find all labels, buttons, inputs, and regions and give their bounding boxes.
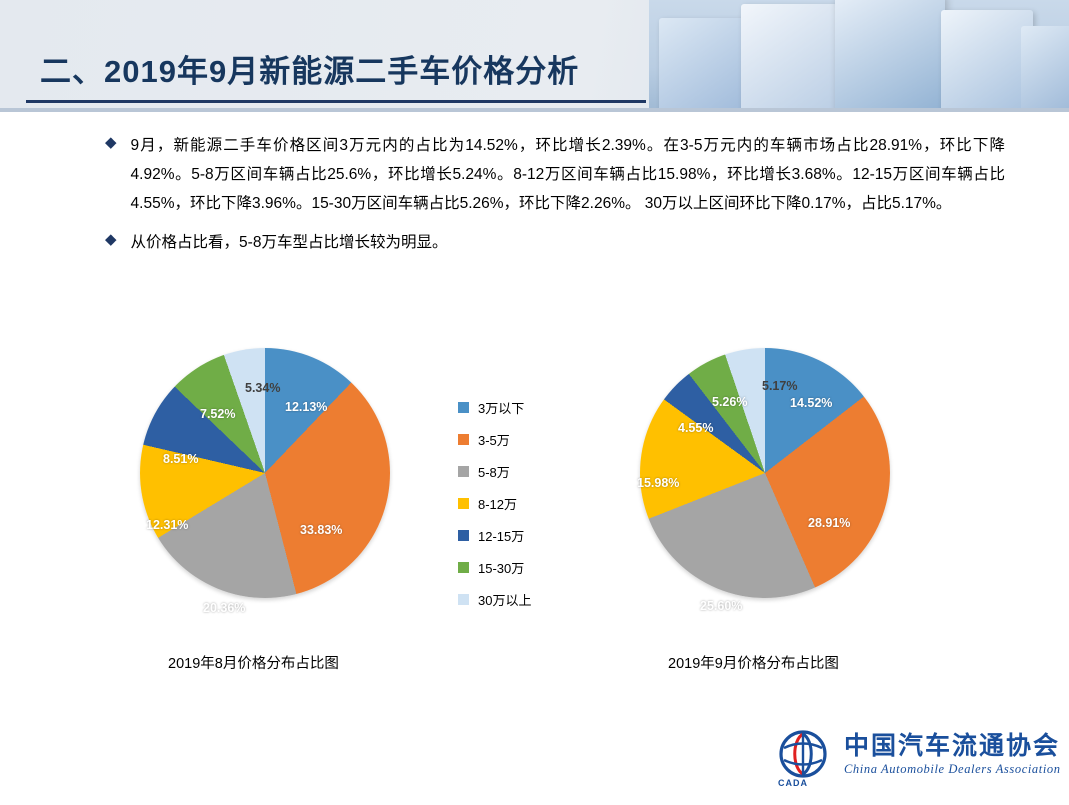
slice-label-15-30wan: 5.26% — [712, 395, 747, 409]
legend-swatch-icon — [458, 466, 469, 477]
legend-label: 30万以上 — [478, 590, 531, 609]
slice-label-5-8wan: 20.36% — [203, 601, 245, 615]
bullet-text: 从价格占比看，5-8万车型占比增长较为明显。 — [131, 228, 448, 257]
slice-label-30wan-shang: 5.17% — [762, 379, 797, 393]
charts-container: 12.13% 33.83% 20.36% 12.31% 8.51% 7.52% … — [0, 330, 1069, 690]
legend-label: 5-8万 — [478, 462, 510, 481]
legend-item: 3万以下 — [458, 398, 531, 417]
glass-cube-b — [741, 4, 837, 112]
bullet-item: ◆ 从价格占比看，5-8万车型占比增长较为明显。 — [105, 228, 1005, 257]
legend-item: 3-5万 — [458, 430, 531, 449]
diamond-bullet-icon: ◆ — [105, 229, 117, 251]
slice-label-3-5wan: 28.91% — [808, 516, 850, 530]
slide-header: 二、2019年9月新能源二手车价格分析 — [0, 0, 1069, 112]
legend-label: 12-15万 — [478, 526, 524, 545]
slice-label-12-15wan: 4.55% — [678, 421, 713, 435]
slice-label-15-30wan: 7.52% — [200, 407, 235, 421]
glass-cube-e — [1021, 26, 1069, 112]
pie-chart-september: 14.52% 28.91% 25.60% 15.98% 4.55% 5.26% … — [640, 348, 900, 648]
slice-label-5-8wan: 25.60% — [700, 599, 742, 613]
legend-label: 8-12万 — [478, 494, 517, 513]
legend-swatch-icon — [458, 434, 469, 445]
slice-label-3wan-xia: 14.52% — [790, 396, 832, 410]
legend-swatch-icon — [458, 562, 469, 573]
legend-label: 3万以下 — [478, 398, 524, 417]
legend-item: 5-8万 — [458, 462, 531, 481]
glass-cube-c — [835, 0, 945, 112]
slice-label-3wan-xia: 12.13% — [285, 400, 327, 414]
bullet-text: 9月，新能源二手车价格区间3万元内的占比为14.52%，环比增长2.39%。在3… — [131, 131, 1005, 218]
legend-item: 8-12万 — [458, 494, 531, 513]
slice-label-8-12wan: 15.98% — [637, 476, 679, 490]
legend-label: 15-30万 — [478, 558, 524, 577]
title-underline — [26, 100, 646, 103]
slice-label-12-15wan: 8.51% — [163, 452, 198, 466]
header-decorative-image — [649, 0, 1069, 112]
slice-label-3-5wan: 33.83% — [300, 523, 342, 537]
legend-item: 12-15万 — [458, 526, 531, 545]
pie-chart-august: 12.13% 33.83% 20.36% 12.31% 8.51% 7.52% … — [140, 348, 400, 648]
slice-label-8-12wan: 12.31% — [146, 518, 188, 532]
cada-abbr: CADA — [778, 778, 808, 788]
glass-cube-d — [941, 10, 1033, 112]
legend-label: 3-5万 — [478, 430, 510, 449]
logo-chinese-name: 中国汽车流通协会 — [844, 726, 1060, 762]
legend-swatch-icon — [458, 498, 469, 509]
legend-item: 30万以上 — [458, 590, 531, 609]
slice-label-30wan-shang: 5.34% — [245, 381, 280, 395]
caption-august: 2019年8月价格分布占比图 — [168, 652, 339, 673]
glass-cube-a — [659, 18, 745, 112]
page-title: 二、2019年9月新能源二手车价格分析 — [40, 46, 579, 91]
legend-item: 15-30万 — [458, 558, 531, 577]
caption-september: 2019年9月价格分布占比图 — [668, 652, 839, 673]
legend-swatch-icon — [458, 530, 469, 541]
bullet-list: ◆ 9月，新能源二手车价格区间3万元内的占比为14.52%，环比增长2.39%。… — [105, 131, 1005, 267]
legend-swatch-icon — [458, 594, 469, 605]
header-bottom-divider — [0, 108, 1069, 112]
logo-english-name: China Automobile Dealers Association — [844, 762, 1061, 777]
cada-logo-mark-icon: CADA — [772, 726, 834, 788]
cada-logo: CADA 中国汽车流通协会 China Automobile Dealers A… — [772, 722, 1052, 792]
bullet-item: ◆ 9月，新能源二手车价格区间3万元内的占比为14.52%，环比增长2.39%。… — [105, 131, 1005, 218]
chart-legend: 3万以下 3-5万 5-8万 8-12万 12-15万 15-30万 30万以上 — [458, 398, 531, 622]
legend-swatch-icon — [458, 402, 469, 413]
diamond-bullet-icon: ◆ — [105, 132, 117, 154]
